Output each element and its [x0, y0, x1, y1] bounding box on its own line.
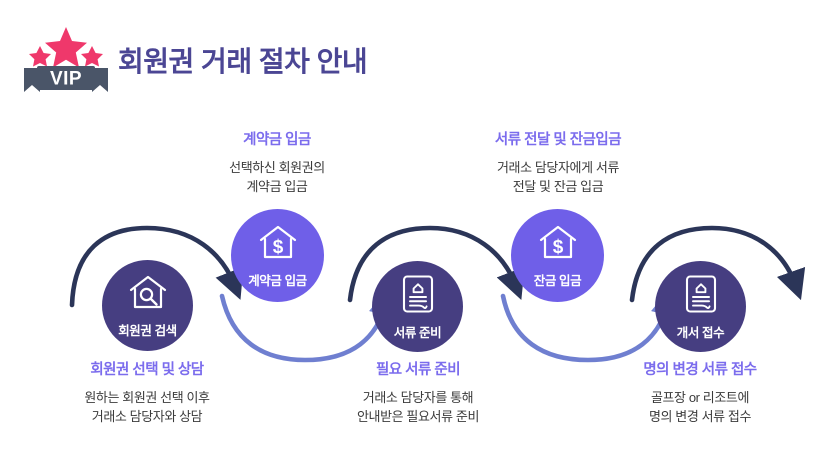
house-search-icon [128, 274, 168, 317]
step-caption-title-1: 회원권 선택 및 상담 [32, 358, 262, 379]
house-dollar-icon: $ [538, 224, 578, 267]
step-node-label-1: 회원권 검색 [118, 320, 177, 339]
step-caption-line-2-2: 계약금 입금 [162, 177, 392, 196]
step-caption-5: 명의 변경 서류 접수 골프장 or 리조트에 명의 변경 서류 접수 [585, 358, 815, 426]
step-node-label-2: 계약금 입금 [248, 270, 307, 289]
step-caption-1: 회원권 선택 및 상담 원하는 회원권 선택 이후 거래소 담당자와 상담 [32, 358, 262, 426]
step-node-label-4: 잔금 입금 [534, 270, 581, 289]
step-caption-line-5-2: 명의 변경 서류 접수 [585, 407, 815, 426]
vip-badge-logo: VIP [18, 22, 114, 94]
step-node-4[interactable]: $ 잔금 입금 [511, 209, 604, 302]
header: VIP 회원권 거래 절차 안내 [0, 0, 835, 110]
step-node-5[interactable]: 개서 접수 [655, 261, 746, 352]
document-icon [684, 274, 718, 319]
step-node-1[interactable]: 회원권 검색 [102, 260, 193, 351]
step-caption-line-5-1: 골프장 or 리조트에 [585, 388, 815, 407]
arrow-2-to-3 [222, 296, 387, 360]
step-caption-line-3-2: 안내받은 필요서류 준비 [303, 407, 533, 426]
step-caption-title-5: 명의 변경 서류 접수 [585, 358, 815, 379]
star-large-center [45, 27, 87, 68]
step-caption-3: 필요 서류 준비 거래소 담당자를 통해 안내받은 필요서류 준비 [303, 358, 533, 426]
step-caption-line-1-2: 거래소 담당자와 상담 [32, 407, 262, 426]
document-icon [401, 274, 435, 319]
step-caption-line-4-1: 거래소 담당자에게 서류 [443, 158, 673, 177]
star-small-right [81, 46, 103, 67]
infographic-canvas: VIP 회원권 거래 절차 안내 [0, 0, 835, 470]
step-node-2[interactable]: $ 계약금 입금 [231, 209, 324, 302]
svg-text:$: $ [272, 237, 283, 258]
step-node-label-5: 개서 접수 [677, 322, 724, 341]
step-caption-title-3: 필요 서류 준비 [303, 358, 533, 379]
step-caption-line-2-1: 선택하신 회원권의 [162, 158, 392, 177]
step-caption-line-4-2: 전달 및 잔금 입금 [443, 177, 673, 196]
step-caption-2: 계약금 입금 선택하신 회원권의 계약금 입금 [162, 128, 392, 196]
page-title: 회원권 거래 절차 안내 [118, 40, 367, 80]
step-caption-4: 서류 전달 및 잔금입금 거래소 담당자에게 서류 전달 및 잔금 입금 [443, 128, 673, 196]
vip-logo-text: VIP [50, 69, 82, 90]
step-node-label-3: 서류 준비 [394, 322, 441, 341]
step-node-3[interactable]: 서류 준비 [372, 261, 463, 352]
step-caption-title-4: 서류 전달 및 잔금입금 [443, 128, 673, 149]
arrow-4-to-5 [503, 296, 669, 360]
step-caption-title-2: 계약금 입금 [162, 128, 392, 149]
star-small-left [29, 46, 51, 67]
step-caption-line-1-1: 원하는 회원권 선택 이후 [32, 388, 262, 407]
svg-text:$: $ [552, 237, 563, 258]
house-dollar-icon: $ [258, 224, 298, 267]
step-caption-line-3-1: 거래소 담당자를 통해 [303, 388, 533, 407]
